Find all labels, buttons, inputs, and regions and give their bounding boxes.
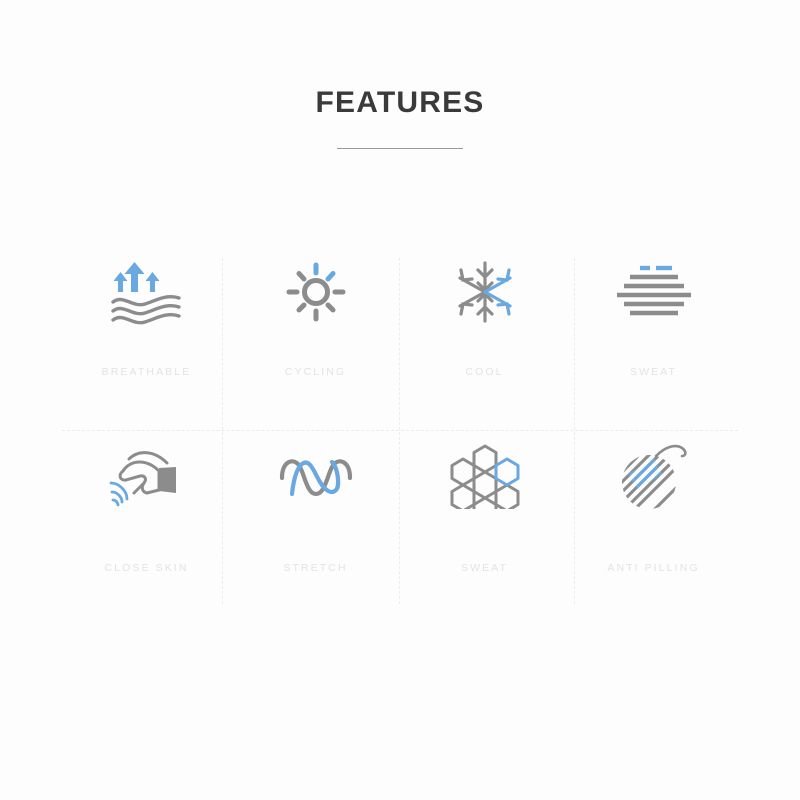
features-page: FEATURES: [0, 0, 800, 800]
title-divider-rule: [337, 148, 463, 149]
honeycomb-hexagons-icon: [449, 434, 521, 518]
feature-label-close-skin: CLOSE SKIN: [62, 562, 231, 574]
feature-cell-cool[interactable]: COOL: [400, 236, 569, 420]
feature-cell-close-skin[interactable]: CLOSE SKIN: [62, 420, 231, 604]
absorbent-lines-icon: [615, 250, 693, 334]
features-row-1: BREATHABLE: [62, 236, 738, 420]
features-row-2: CLOSE SKIN STRETCH: [62, 420, 738, 604]
feature-label-cool: COOL: [400, 366, 569, 378]
hand-touch-waves-icon: [109, 434, 185, 518]
feature-label-breathable: BREATHABLE: [62, 366, 231, 378]
feature-label-stretch: STRETCH: [231, 562, 400, 574]
feature-label-anti-pilling: ANTI PILLING: [569, 562, 738, 574]
feature-cell-breathable[interactable]: BREATHABLE: [62, 236, 231, 420]
feature-label-sweat-lines: SWEAT: [569, 366, 738, 378]
page-title: FEATURES: [0, 84, 800, 122]
yarn-ball-icon: [616, 434, 692, 518]
sun-rays-icon: [285, 250, 347, 334]
feature-cell-anti-pilling[interactable]: ANTI PILLING: [569, 420, 738, 604]
feature-cell-sweat-honeycomb[interactable]: SWEAT: [400, 420, 569, 604]
feature-label-cycling: CYCLING: [231, 366, 400, 378]
feature-cell-cycling[interactable]: CYCLING: [231, 236, 400, 420]
wavy-stretch-lines-icon: [276, 434, 356, 518]
features-grid: BREATHABLE: [62, 236, 738, 604]
breathable-waves-arrows-icon: [109, 250, 185, 334]
feature-cell-stretch[interactable]: STRETCH: [231, 420, 400, 604]
snowflake-icon: [453, 250, 517, 334]
feature-label-sweat-honeycomb: SWEAT: [400, 562, 569, 574]
page-header: FEATURES: [0, 84, 800, 149]
feature-cell-sweat-lines[interactable]: SWEAT: [569, 236, 738, 420]
